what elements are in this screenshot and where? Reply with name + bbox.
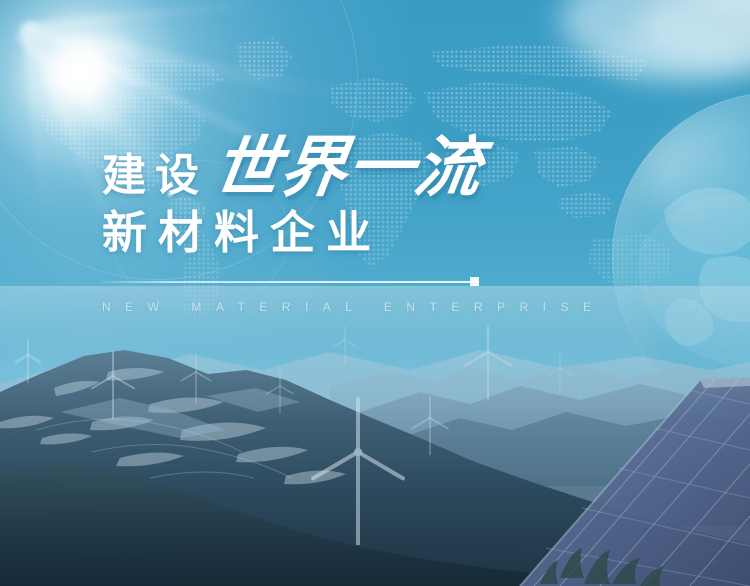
headline-prefix: 建设	[102, 154, 208, 198]
headline-subtitle: NEW MATERIAL ENTERPRISE	[102, 300, 522, 314]
headline-divider	[102, 281, 477, 283]
headline-line-2: 新材料企业	[102, 210, 522, 255]
headline-emphasis: 世界一流	[209, 134, 486, 200]
landscape-scene	[0, 326, 750, 586]
headline-block: 建设 世界一流 新材料企业 NEW MATERIAL ENTERPRISE	[102, 134, 522, 314]
divider-cap	[470, 277, 479, 286]
hero-banner: 建设 世界一流 新材料企业 NEW MATERIAL ENTERPRISE	[0, 0, 750, 586]
headline-line-1: 建设 世界一流	[102, 134, 522, 200]
